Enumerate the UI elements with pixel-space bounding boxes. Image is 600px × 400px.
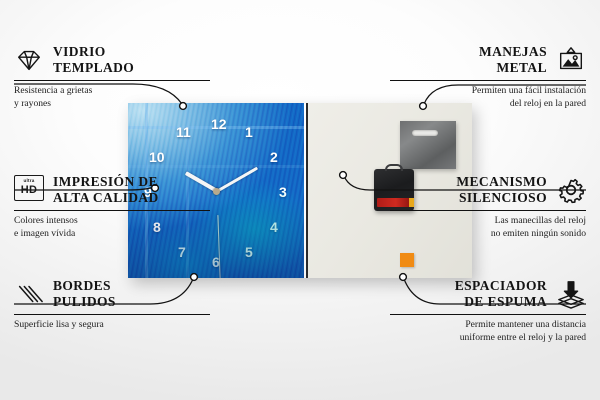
- feature-impresion-alta-calidad[interactable]: ultra HD IMPRESIÓN DE ALTA CALIDAD Color…: [14, 174, 210, 241]
- feature-subtitle-line2: e imagen vívida: [14, 228, 210, 241]
- feature-header: ESPACIADOR DE ESPUMA: [390, 278, 586, 309]
- feature-mecanismo-silencioso[interactable]: MECANISMO SILENCIOSO Las manecillas del …: [390, 174, 586, 241]
- feature-title: MECANISMO SILENCIOSO: [456, 174, 547, 205]
- feature-header: MANEJAS METAL: [390, 44, 586, 75]
- feature-subtitle-line2: no emiten ningún sonido: [390, 228, 586, 241]
- feature-divider: [390, 314, 586, 315]
- feature-title: IMPRESIÓN DE ALTA CALIDAD: [53, 174, 159, 205]
- feature-subtitle-line1: Permiten una fácil instalación: [390, 85, 586, 98]
- feature-divider: [14, 80, 210, 81]
- feature-header: BORDES PULIDOS: [14, 278, 210, 309]
- feature-header: ultra HD IMPRESIÓN DE ALTA CALIDAD: [14, 174, 210, 205]
- feature-bordes-pulidos[interactable]: BORDES PULIDOS Superficie lisa y segura: [14, 278, 210, 332]
- feature-divider: [390, 210, 586, 211]
- hd-badge-big-text: HD: [21, 185, 38, 196]
- foam-spacer-press-icon: [556, 279, 586, 309]
- diamond-icon: [14, 45, 44, 75]
- feature-header: MECANISMO SILENCIOSO: [390, 174, 586, 205]
- feature-subtitle-line1: Colores intensos: [14, 215, 210, 228]
- feature-espaciador-espuma[interactable]: ESPACIADOR DE ESPUMA Permite mantener un…: [390, 278, 586, 345]
- feature-header: VIDRIO TEMPLADO: [14, 44, 210, 75]
- feature-title: BORDES PULIDOS: [53, 278, 116, 309]
- feature-subtitle-line2: y rayones: [14, 98, 210, 111]
- feature-subtitle-line2: del reloj en la pared: [390, 98, 586, 111]
- ultra-hd-badge-icon: ultra HD: [14, 175, 44, 205]
- connector-dot-mecanismo: [340, 172, 347, 179]
- feature-title: ESPACIADOR DE ESPUMA: [455, 278, 547, 309]
- feature-title: VIDRIO TEMPLADO: [53, 44, 134, 75]
- feature-manejas-metal[interactable]: MANEJAS METAL Permiten una fácil instala…: [390, 44, 586, 111]
- feature-subtitle-line1: Superficie lisa y segura: [14, 319, 210, 332]
- feature-subtitle-line1: Permite mantener una distancia: [390, 319, 586, 332]
- feature-title: MANEJAS METAL: [479, 44, 547, 75]
- feature-divider: [390, 80, 586, 81]
- feature-subtitle-line2: uniforme entre el reloj y la pared: [390, 332, 586, 345]
- picture-frame-hanger-icon: [556, 45, 586, 75]
- feature-divider: [14, 210, 210, 211]
- feature-divider: [14, 314, 210, 315]
- infographic-canvas: 12 1 2 3 4 5 6 7 8 9 10 11: [0, 0, 600, 400]
- gear-icon: [556, 175, 586, 205]
- feature-vidrio-templado[interactable]: VIDRIO TEMPLADO Resistencia a grietas y …: [14, 44, 210, 111]
- feature-subtitle-line1: Las manecillas del reloj: [390, 215, 586, 228]
- polished-edges-icon: [14, 279, 44, 309]
- feature-subtitle-line1: Resistencia a grietas: [14, 85, 210, 98]
